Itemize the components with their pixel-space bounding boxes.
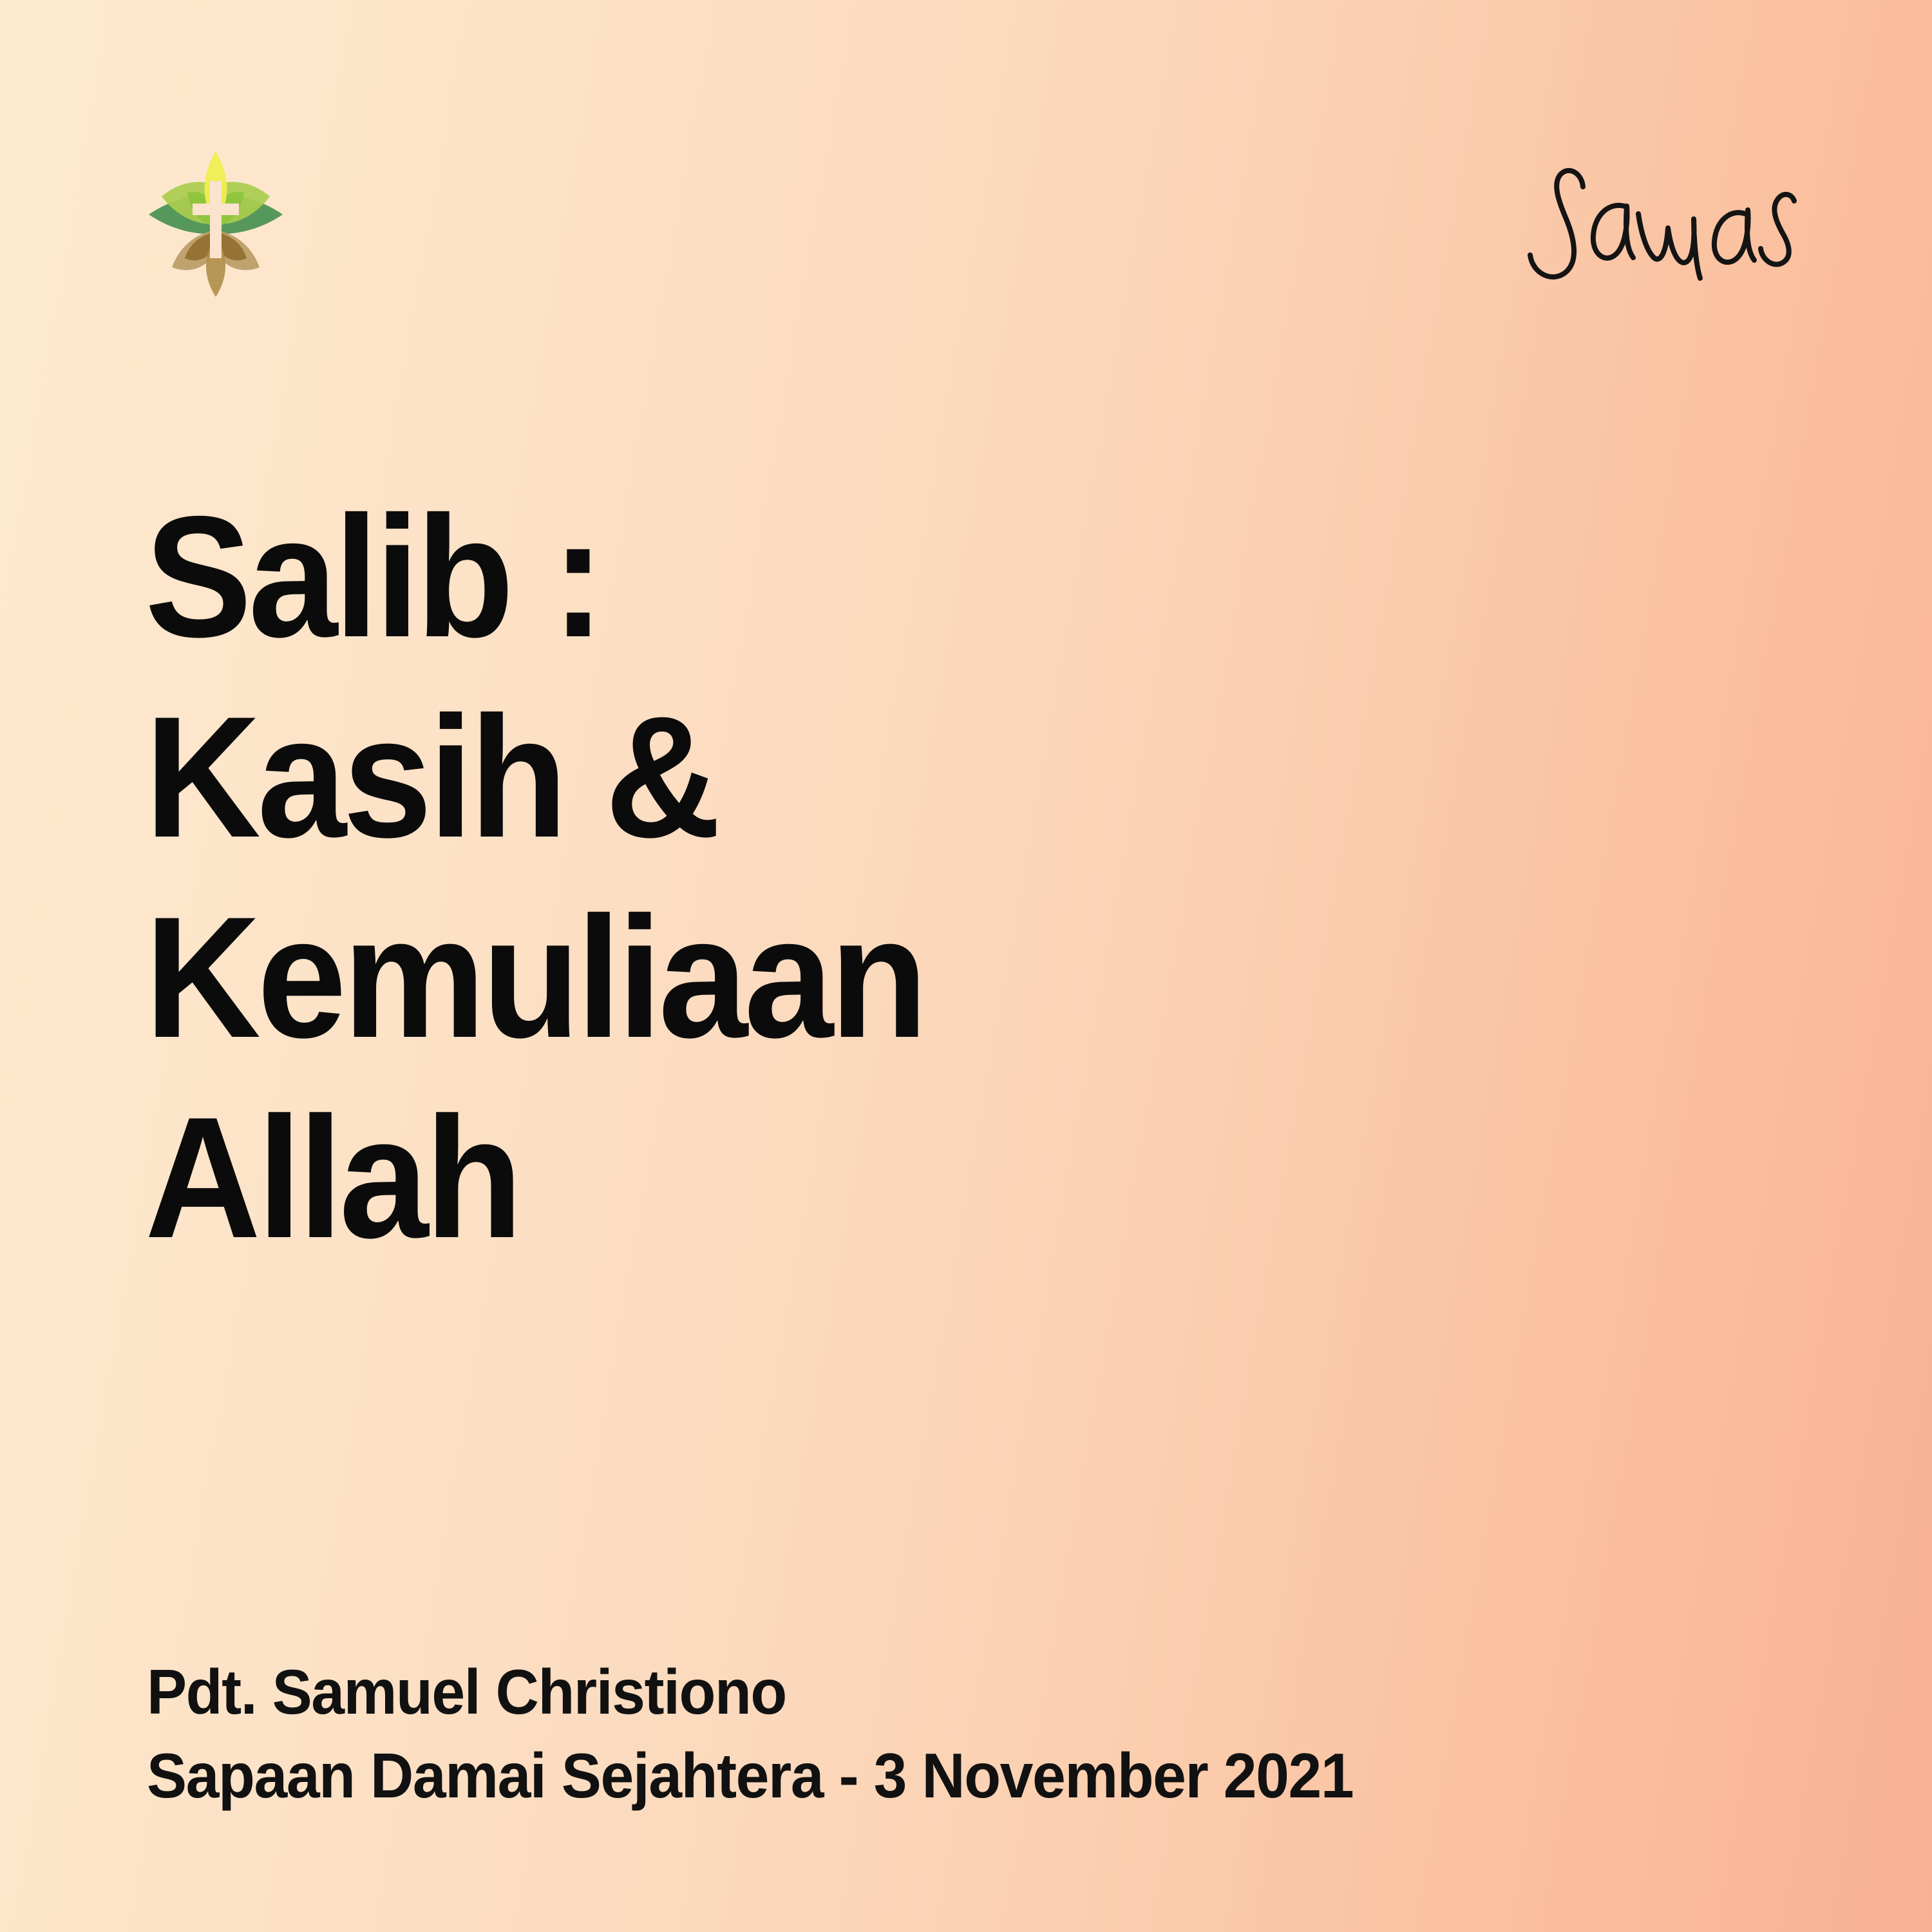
- page-title: Salib : Kasih & Kemuliaan Allah: [145, 477, 1497, 1278]
- title-line-1: Salib :: [145, 477, 1403, 677]
- sermon-title-card: Salib : Kasih & Kemuliaan Allah Pdt. Sam…: [0, 0, 1932, 1932]
- title-line-2: Kasih &: [145, 677, 1403, 877]
- lotus-cross-logo-icon: [132, 138, 299, 306]
- title-line-4: Allah: [145, 1077, 1403, 1278]
- header: [0, 0, 1932, 361]
- footer: Pdt. Samuel Christiono Sapaan Damai Seja…: [147, 1651, 1757, 1817]
- series-and-date: Sapaan Damai Sejahtera - 3 November 2021: [147, 1734, 1676, 1817]
- title-line-3: Kemuliaan: [145, 877, 1403, 1077]
- brand-wordmark-samas: [1507, 147, 1842, 308]
- speaker-name: Pdt. Samuel Christiono: [147, 1651, 1676, 1734]
